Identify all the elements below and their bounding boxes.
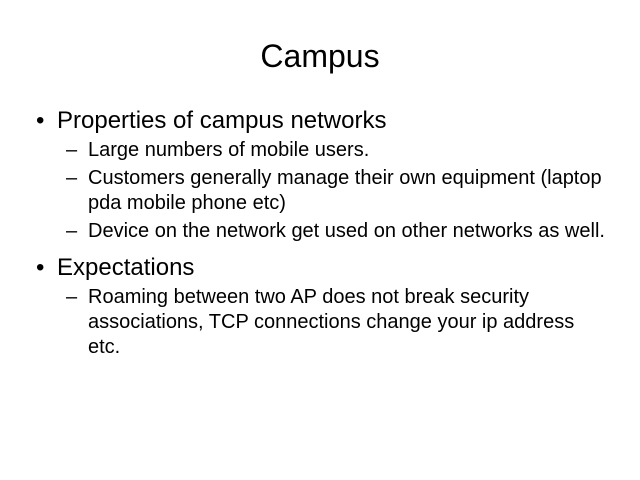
bullet-dot-icon: •: [36, 106, 44, 136]
bullet-level1-label: Properties of campus networks: [57, 106, 608, 136]
dash-icon: –: [66, 219, 77, 244]
dash-icon: –: [66, 285, 77, 310]
page-title: Campus: [0, 36, 640, 76]
dash-icon: –: [66, 138, 77, 163]
bullet-level2: – Device on the network get used on othe…: [66, 219, 608, 244]
bullet-level1: • Expectations: [32, 253, 608, 283]
bullet-level2-label: Roaming between two AP does not break se…: [88, 285, 608, 360]
bullet-level2-label: Customers generally manage their own equ…: [88, 166, 608, 216]
sublist-group: – Roaming between two AP does not break …: [32, 285, 608, 360]
bullet-level1: • Properties of campus networks: [32, 106, 608, 136]
dash-icon: –: [66, 166, 77, 191]
bullet-level2-label: Device on the network get used on other …: [88, 219, 608, 244]
bullet-dot-icon: •: [36, 253, 44, 283]
slide-body: • Properties of campus networks – Large …: [32, 106, 608, 363]
bullet-level1-label: Expectations: [57, 253, 608, 283]
bullet-level2: – Large numbers of mobile users.: [66, 138, 608, 163]
slide: Campus • Properties of campus networks –…: [0, 0, 640, 480]
sublist-group: – Large numbers of mobile users. – Custo…: [32, 138, 608, 244]
bullet-level2: – Roaming between two AP does not break …: [66, 285, 608, 360]
bullet-level2: – Customers generally manage their own e…: [66, 166, 608, 216]
bullet-level2-label: Large numbers of mobile users.: [88, 138, 608, 163]
